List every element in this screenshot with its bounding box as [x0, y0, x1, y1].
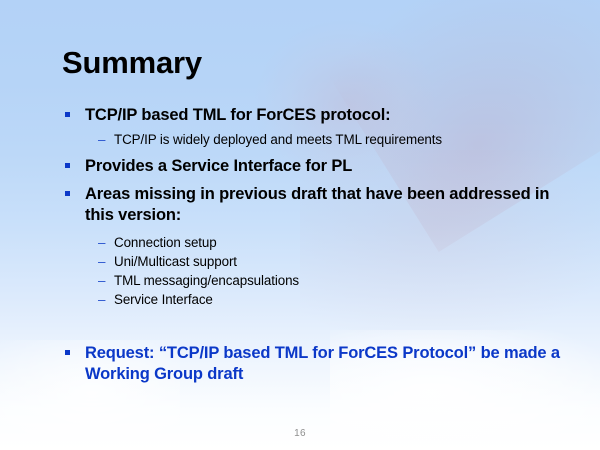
spacer — [62, 177, 572, 184]
bullet-item-level2: – TML messaging/encapsulations — [62, 271, 572, 290]
slide-content: Summary TCP/IP based TML for ForCES prot… — [0, 0, 600, 450]
spacer — [62, 309, 572, 343]
bullet-text: Provides a Service Interface for PL — [85, 157, 352, 175]
en-dash-icon: – — [98, 252, 105, 271]
square-bullet-icon — [65, 191, 70, 196]
bullet-text: TCP/IP is widely deployed and meets TML … — [114, 132, 442, 147]
bullet-text: Connection setup — [114, 235, 217, 250]
spacer — [62, 226, 572, 233]
bullet-item-level1: Provides a Service Interface for PL — [62, 156, 572, 177]
en-dash-icon: – — [98, 130, 105, 149]
bullet-text: Uni/Multicast support — [114, 254, 237, 269]
en-dash-icon: – — [98, 271, 105, 290]
bullet-item-level1: TCP/IP based TML for ForCES protocol: — [62, 105, 572, 126]
page-number: 16 — [0, 428, 600, 439]
bullet-text: Service Interface — [114, 292, 213, 307]
bullet-item-level2: – Uni/Multicast support — [62, 252, 572, 271]
presentation-slide: Summary TCP/IP based TML for ForCES prot… — [0, 0, 600, 450]
bullet-text: Request: “TCP/IP based TML for ForCES Pr… — [85, 344, 560, 383]
bullet-item-level1: Areas missing in previous draft that hav… — [62, 184, 572, 226]
spacer — [62, 149, 572, 156]
bullet-text: TCP/IP based TML for ForCES protocol: — [85, 106, 391, 124]
square-bullet-icon — [65, 112, 70, 117]
en-dash-icon: – — [98, 290, 105, 309]
bullet-item-level2: – TCP/IP is widely deployed and meets TM… — [62, 130, 572, 149]
bullet-item-request: Request: “TCP/IP based TML for ForCES Pr… — [62, 343, 572, 385]
en-dash-icon: – — [98, 233, 105, 252]
slide-title: Summary — [62, 47, 202, 80]
bullet-item-level2: – Service Interface — [62, 290, 572, 309]
bullet-text: Areas missing in previous draft that hav… — [85, 185, 549, 224]
square-bullet-icon — [65, 163, 70, 168]
bullet-item-level2: – Connection setup — [62, 233, 572, 252]
slide-body: TCP/IP based TML for ForCES protocol: – … — [62, 105, 572, 385]
square-bullet-icon — [65, 350, 70, 355]
bullet-text: TML messaging/encapsulations — [114, 273, 299, 288]
